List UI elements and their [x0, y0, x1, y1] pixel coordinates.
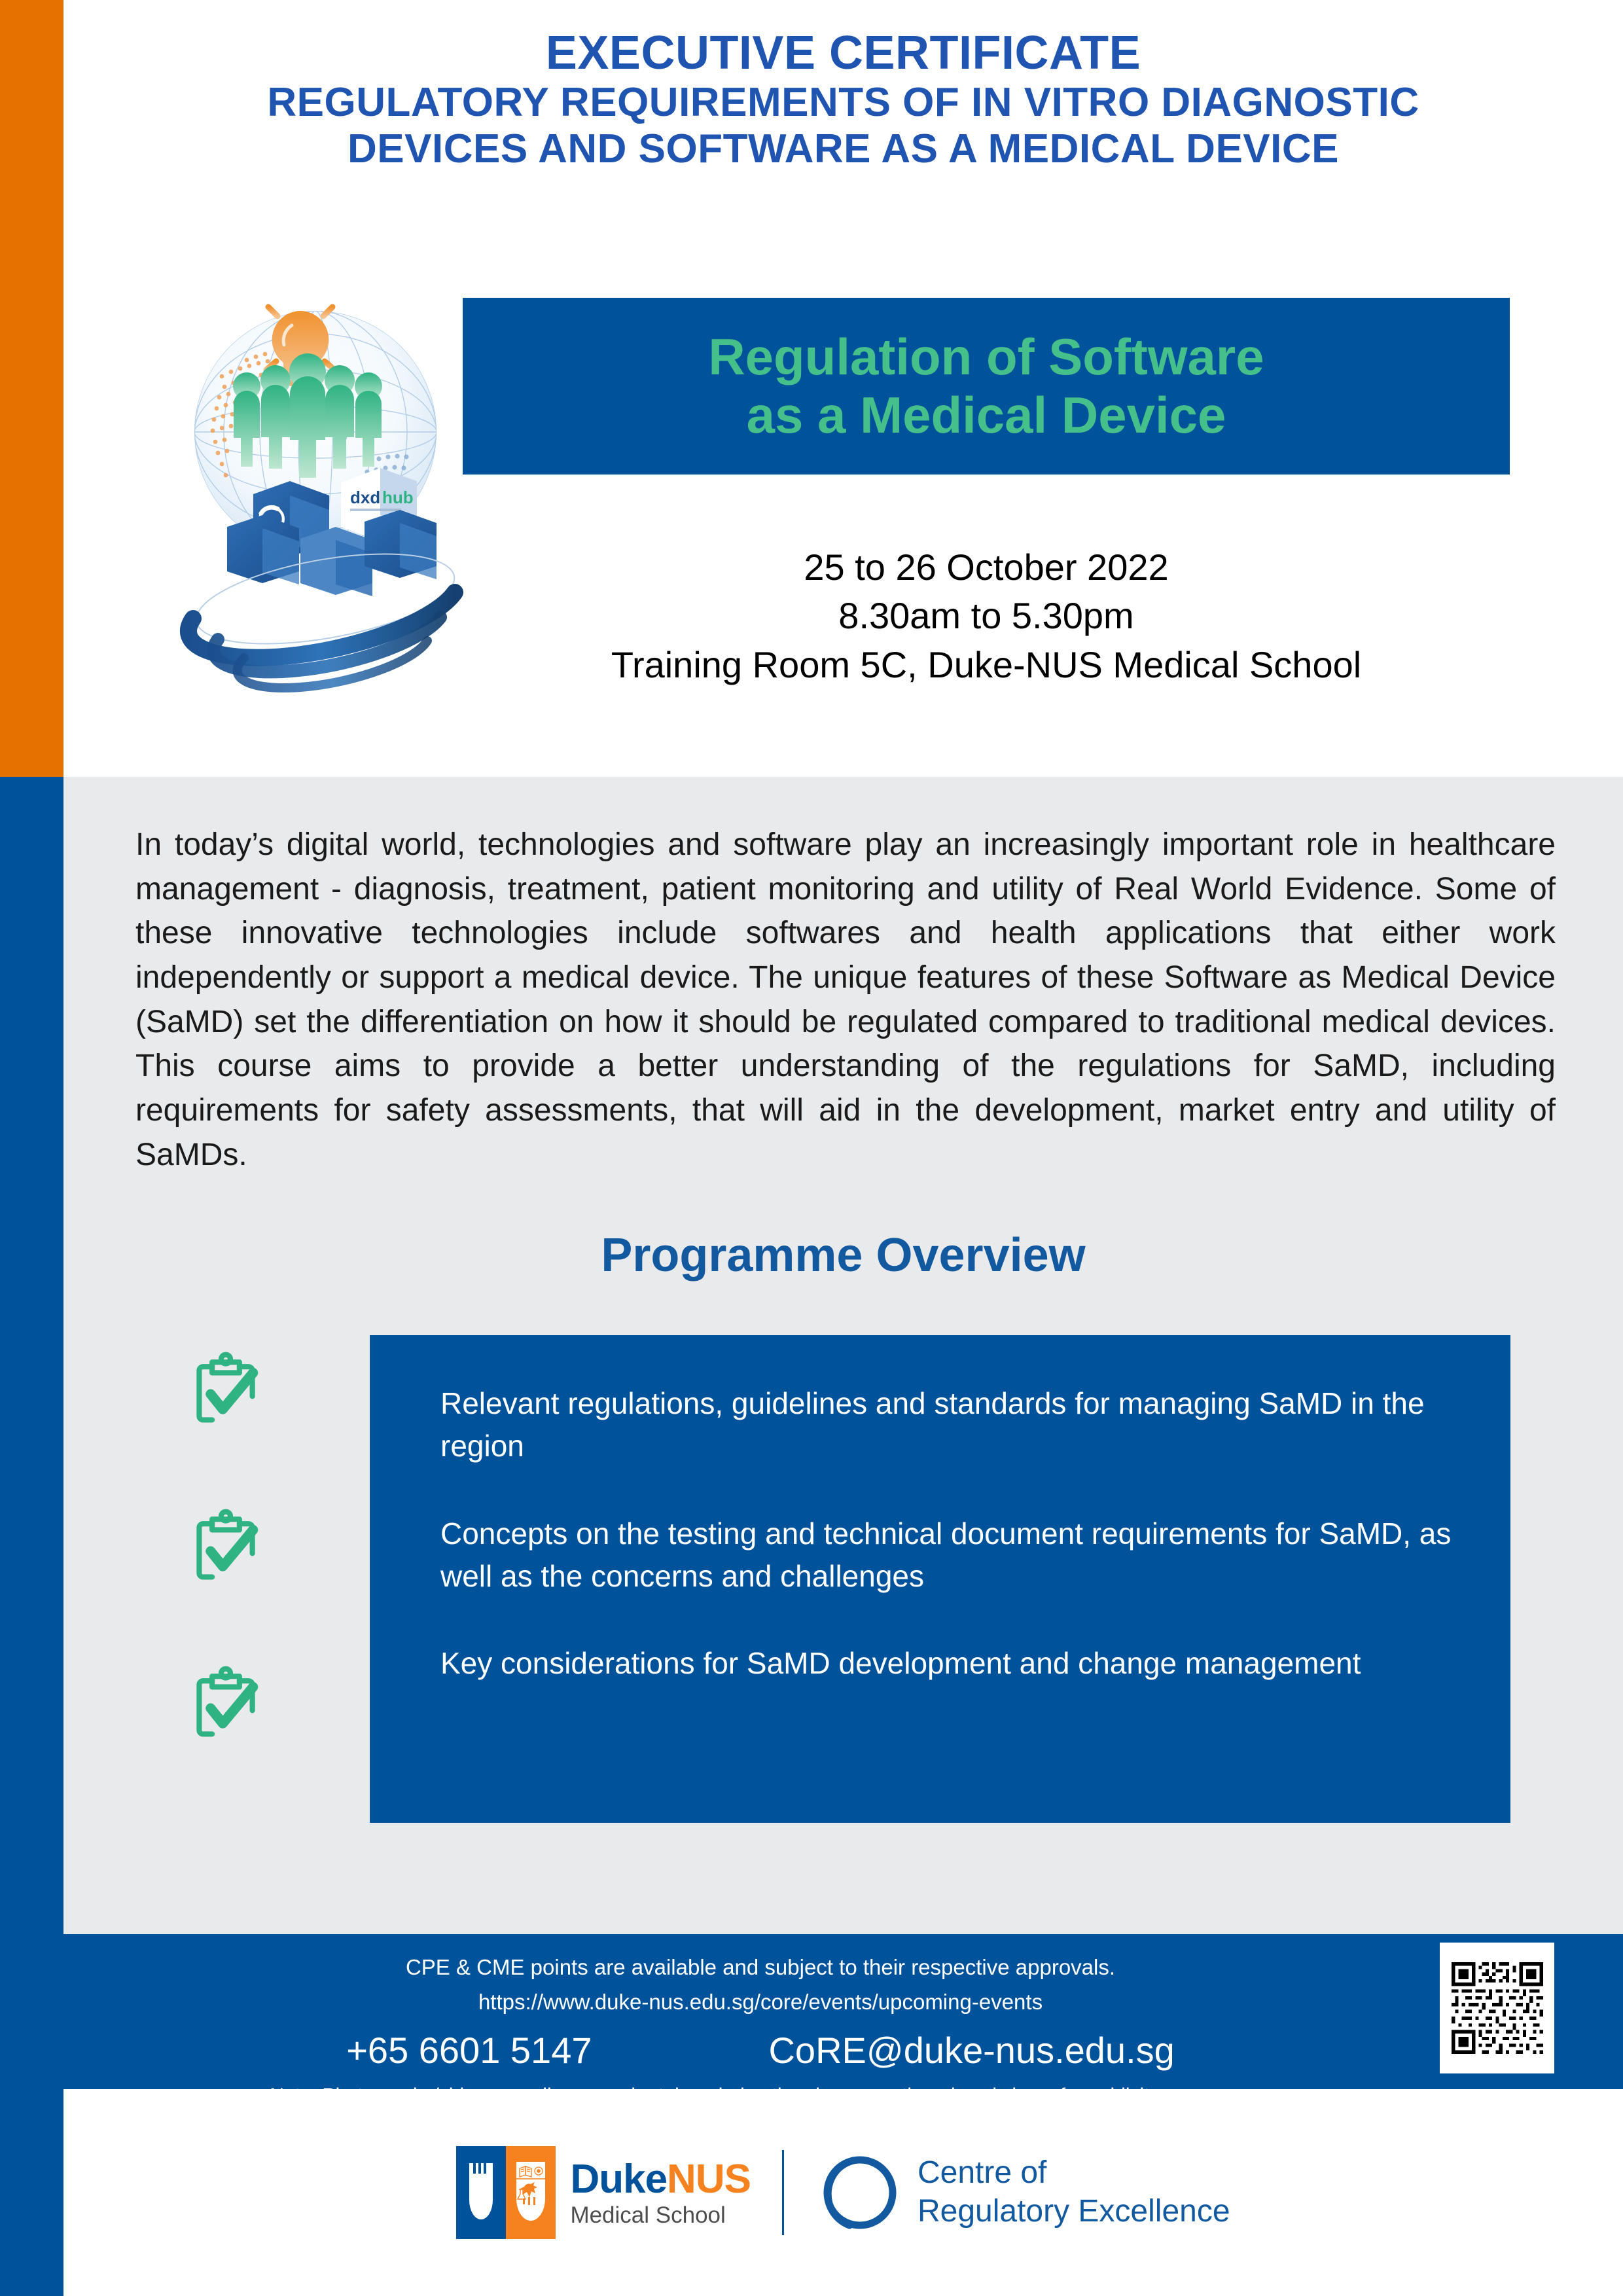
header-section: EXECUTIVE CERTIFICATE REGULATORY REQUIRE…: [63, 0, 1623, 777]
page-title-line-1: EXECUTIVE CERTIFICATE: [63, 26, 1623, 80]
checklist-icons: [188, 1352, 279, 1810]
cube-label-hub: hub: [382, 488, 414, 507]
duke-nus-logo: DukeNUS Medical School: [456, 2146, 751, 2239]
core-line-1: Centre of: [918, 2154, 1230, 2193]
programme-overview-heading: Programme Overview: [63, 1229, 1623, 1282]
list-item: Key considerations for SaMD development …: [440, 1642, 1461, 1685]
nus-word: NUS: [667, 2157, 751, 2202]
event-dates: 25 to 26 October 2022: [463, 543, 1510, 592]
logo-group: DukeNUS Medical School Centre of Regulat…: [456, 2146, 1230, 2239]
cube-label-dxd: dxd: [350, 488, 380, 507]
core-line-2: Regulatory Excellence: [918, 2193, 1230, 2231]
bottom-logo-bar: DukeNUS Medical School Centre of Regulat…: [63, 2089, 1623, 2296]
logo-divider: [782, 2150, 784, 2235]
duke-word: Duke: [570, 2157, 667, 2202]
footer-contact-bar: CPE & CME points are available and subje…: [63, 1934, 1623, 2089]
core-wordmark: Centre of Regulatory Excellence: [918, 2154, 1230, 2231]
clipboard-check-icon: [188, 1352, 264, 1427]
medical-school-subtitle: Medical School: [570, 2204, 751, 2227]
duke-nus-shield-icon: [456, 2146, 556, 2239]
intro-paragraph: In today’s digital world, technologies a…: [135, 823, 1556, 1177]
contact-phone[interactable]: +65 6601 5147: [346, 2028, 592, 2072]
core-logo: Centre of Regulatory Excellence: [815, 2150, 1230, 2235]
contact-email[interactable]: CoRE@duke-nus.edu.sg: [768, 2028, 1174, 2072]
contact-row: +65 6601 5147 CoRE@duke-nus.edu.sg: [63, 2028, 1457, 2072]
duke-nus-wordmark: DukeNUS Medical School: [570, 2159, 751, 2227]
qr-code[interactable]: [1440, 1943, 1554, 2073]
left-strip-orange: [0, 0, 63, 777]
clipboard-check-icon: [188, 1666, 264, 1742]
programme-overview-box: Relevant regulations, guidelines and sta…: [370, 1335, 1510, 1823]
list-item: Relevant regulations, guidelines and sta…: [440, 1382, 1461, 1468]
events-url[interactable]: https://www.duke-nus.edu.sg/core/events/…: [63, 1988, 1457, 2017]
core-swirl-icon: [815, 2150, 901, 2235]
course-title-line-2: as a Medical Device: [463, 386, 1510, 444]
course-title-banner: Regulation of Software as a Medical Devi…: [463, 298, 1510, 475]
footer-text-block: CPE & CME points are available and subje…: [63, 1934, 1457, 2108]
cpe-cme-note: CPE & CME points are available and subje…: [63, 1954, 1457, 1982]
left-strip-blue: [0, 777, 63, 2296]
event-details: 25 to 26 October 2022 8.30am to 5.30pm T…: [463, 543, 1510, 689]
list-item: Concepts on the testing and technical do…: [440, 1513, 1461, 1598]
globe-illustration: dxd hub: [162, 265, 515, 717]
event-time: 8.30am to 5.30pm: [463, 592, 1510, 640]
course-title-line-1: Regulation of Software: [463, 328, 1510, 386]
page-title-line-2: REGULATORY REQUIREMENTS OF IN VITRO DIAG…: [63, 80, 1623, 126]
course-title: Regulation of Software as a Medical Devi…: [463, 328, 1510, 444]
poster-title-block: EXECUTIVE CERTIFICATE REGULATORY REQUIRE…: [63, 26, 1623, 172]
page-title-line-3: DEVICES AND SOFTWARE AS A MEDICAL DEVICE: [63, 126, 1623, 173]
clipboard-check-icon: [188, 1509, 264, 1585]
event-venue: Training Room 5C, Duke-NUS Medical Schoo…: [463, 641, 1510, 689]
programme-overview-list: Relevant regulations, guidelines and sta…: [440, 1382, 1461, 1685]
body-section: In today’s digital world, technologies a…: [63, 777, 1623, 1934]
